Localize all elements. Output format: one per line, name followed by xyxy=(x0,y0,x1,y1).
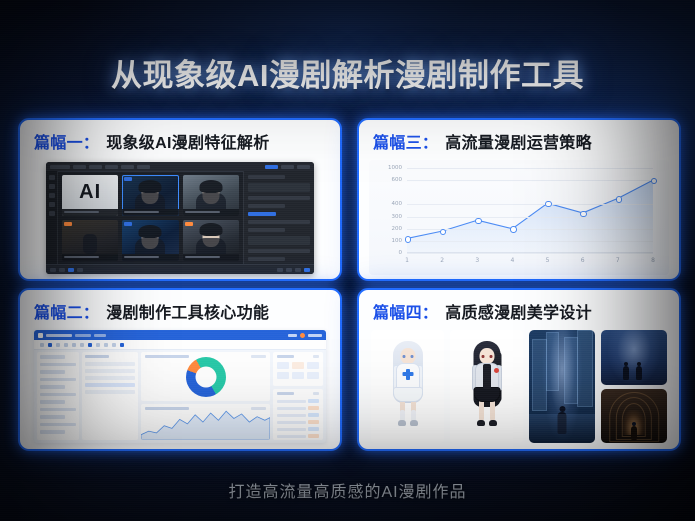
chart-y-tick-label: 100 xyxy=(392,238,403,244)
editor-left-rail[interactable] xyxy=(46,171,58,265)
chart-y-tick-label: 400 xyxy=(392,201,403,207)
card-two-title: 漫剧制作工具核心功能 xyxy=(106,299,269,323)
editor-thumbnail-grid[interactable]: AI xyxy=(58,171,243,265)
chart-y-tick-label: 600 xyxy=(392,177,403,183)
dashboard-main xyxy=(34,349,326,443)
card-three-header: 篇幅三： 高流量漫剧运营策略 xyxy=(359,120,679,159)
ai-thumbnail-label: AI xyxy=(62,181,118,204)
chart-x-tick-label: 7 xyxy=(616,257,620,264)
chart-x-tick-label: 5 xyxy=(546,257,550,264)
scene-corridor[interactable] xyxy=(601,389,667,444)
thumbnail-character-blue[interactable] xyxy=(122,175,178,216)
scene-stack xyxy=(601,330,667,443)
card-two-body xyxy=(20,328,340,449)
chart-x-tick-label: 3 xyxy=(475,257,479,264)
card-one-title: 现象级AI漫剧特征解析 xyxy=(106,129,269,153)
chart-data-point[interactable] xyxy=(475,218,482,225)
chart-data-point[interactable] xyxy=(580,211,587,218)
dashboard-header-bar xyxy=(34,330,326,340)
character-art-white[interactable] xyxy=(371,330,444,443)
chart-gridline xyxy=(407,253,653,254)
chart-x-tick-label: 8 xyxy=(651,257,655,264)
slide-canvas: 从现象级AI漫剧解析漫剧制作工具 篇幅一： 现象级AI漫剧特征解析 AI xyxy=(0,0,695,521)
dashboard-sidebar[interactable] xyxy=(37,352,79,440)
area-chart-card[interactable] xyxy=(141,404,270,440)
chart-gridline xyxy=(407,241,653,242)
thumbnail-ai[interactable]: AI xyxy=(62,175,118,216)
chart-data-point[interactable] xyxy=(616,196,623,203)
chart-gridline xyxy=(407,180,653,181)
video-editor-screenshot: AI xyxy=(46,162,314,274)
chart-x-tick-label: 2 xyxy=(440,257,444,264)
chart-y-tick-label: 0 xyxy=(399,250,403,256)
card-four-header: 篇幅四： 高质感漫剧美学设计 xyxy=(359,290,679,329)
card-one-body: AI xyxy=(20,158,340,279)
thumbnail-character-night[interactable] xyxy=(122,220,178,261)
card-three-title: 高流量漫剧运营策略 xyxy=(445,129,592,153)
chart-data-point[interactable] xyxy=(510,226,517,233)
chart-data-point[interactable] xyxy=(405,236,412,243)
character-art-dark[interactable] xyxy=(450,330,523,443)
quick-actions-card[interactable] xyxy=(273,352,323,386)
status-list-card[interactable] xyxy=(273,389,323,440)
line-chart[interactable]: 1000600400300200100012345678 xyxy=(407,168,653,253)
admin-dashboard-screenshot xyxy=(34,330,326,443)
chart-y-tick-label: 200 xyxy=(392,226,403,232)
area-chart xyxy=(141,404,270,440)
scene-city-street[interactable] xyxy=(529,330,595,443)
card-one-tag: 篇幅一： xyxy=(34,129,99,153)
donut-chart-card[interactable] xyxy=(141,352,270,401)
chart-y-tick-label: 1000 xyxy=(388,165,402,171)
footer-caption: 打造高流量高质感的AI漫剧作品 xyxy=(0,478,695,502)
card-four-title: 高质感漫剧美学设计 xyxy=(445,299,592,323)
line-chart-panel: 1000600400300200100012345678 xyxy=(369,160,669,275)
dashboard-list-panel[interactable] xyxy=(82,352,138,440)
thumbnail-scene-dark[interactable] xyxy=(183,220,239,261)
card-four-body xyxy=(359,328,679,449)
card-section-three[interactable]: 篇幅三： 高流量漫剧运营策略 xyxy=(357,118,681,281)
card-four-tag: 篇幅四： xyxy=(373,299,438,323)
card-section-two[interactable]: 篇幅二： 漫剧制作工具核心功能 xyxy=(18,288,342,451)
page-title: 从现象级AI漫剧解析漫剧制作工具 xyxy=(0,50,695,95)
donut-chart xyxy=(186,357,226,397)
chart-y-tick-label: 300 xyxy=(392,214,403,220)
dashboard-center-column xyxy=(141,352,270,440)
card-one-header: 篇幅一： 现象级AI漫剧特征解析 xyxy=(20,120,340,159)
chart-gridline xyxy=(407,168,653,169)
chart-gridline xyxy=(407,217,653,218)
art-gallery xyxy=(371,330,667,443)
editor-status-bar xyxy=(46,264,314,274)
card-three-body: 1000600400300200100012345678 xyxy=(359,158,679,279)
thumbnail-scene-warm[interactable] xyxy=(62,220,118,261)
thumbnail-character-grey[interactable] xyxy=(183,175,239,216)
card-two-header: 篇幅二： 漫剧制作工具核心功能 xyxy=(20,290,340,329)
card-section-four[interactable]: 篇幅四： 高质感漫剧美学设计 xyxy=(357,288,681,451)
chart-x-tick-label: 6 xyxy=(581,257,585,264)
scene-two-figures[interactable] xyxy=(601,330,667,385)
editor-main: AI xyxy=(46,171,314,265)
card-section-one[interactable]: 篇幅一： 现象级AI漫剧特征解析 AI xyxy=(18,118,342,281)
card-two-tag: 篇幅二： xyxy=(34,299,99,323)
dashboard-right-column xyxy=(273,352,323,440)
chart-gridline xyxy=(407,204,653,205)
editor-properties-panel[interactable] xyxy=(243,171,314,265)
chart-data-point[interactable] xyxy=(651,178,658,185)
card-three-tag: 篇幅三： xyxy=(373,129,438,153)
chart-x-tick-label: 4 xyxy=(511,257,515,264)
chart-x-tick-label: 1 xyxy=(405,257,409,264)
